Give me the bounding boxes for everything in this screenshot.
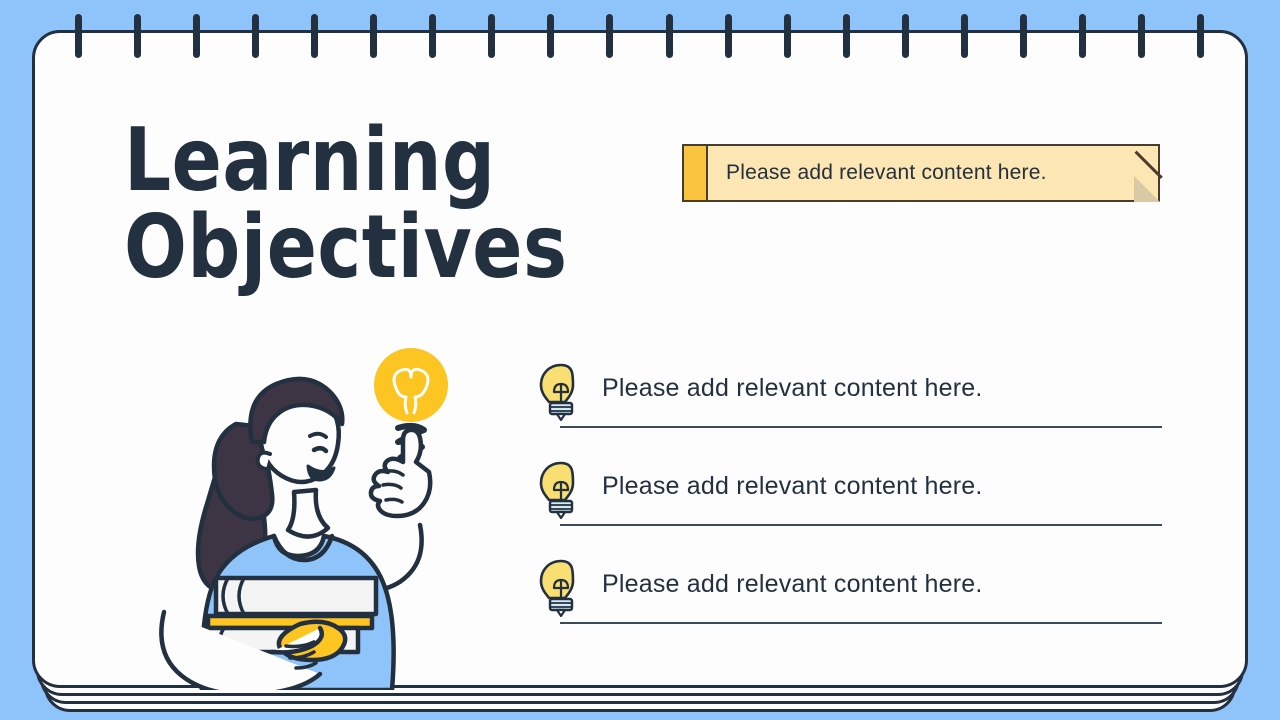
page-title: Learning Objectives [124,118,684,293]
illustration-svg [124,340,494,690]
lightbulb-icon [538,460,584,522]
lightbulb-icon [538,460,584,522]
lightbulb-icon [538,362,584,424]
page-title-line-2: Objectives [124,205,684,291]
objective-row[interactable]: Please add relevant content here. [538,556,1162,654]
objective-text: Please add relevant content here. [602,570,982,599]
objective-underline [560,622,1162,624]
illustration-woman-with-books [124,340,494,690]
objectives-list: Please add relevant content here.Please … [538,360,1162,654]
lightbulb-icon [538,362,584,424]
objective-underline [560,524,1162,526]
sticky-note-text: Please add relevant content here. [708,161,1158,185]
neck [288,490,328,537]
slide-canvas: Learning Objectives Please add relevant … [0,0,1280,720]
lightbulb-icon [538,558,584,620]
page-title-line-1: Learning [124,118,684,204]
objective-text: Please add relevant content here. [602,374,982,403]
lightbulb-icon [538,558,584,620]
objective-underline [560,426,1162,428]
sticky-note-fold-icon [1134,176,1160,202]
objective-row[interactable]: Please add relevant content here. [538,360,1162,458]
sticky-note[interactable]: Please add relevant content here. [682,144,1160,202]
objective-row[interactable]: Please add relevant content here. [538,458,1162,556]
objective-text: Please add relevant content here. [602,472,982,501]
sticky-note-tab [684,146,708,200]
